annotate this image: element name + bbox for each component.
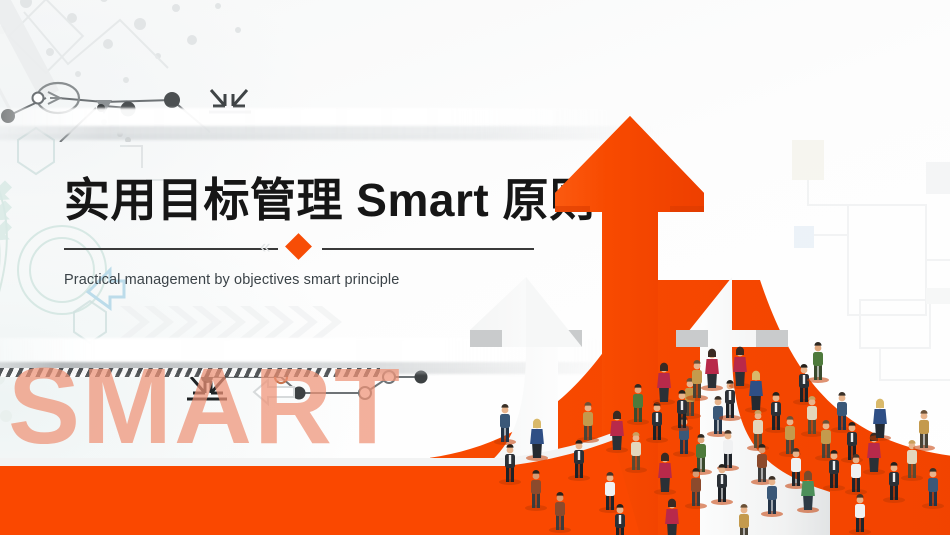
divider-line-left <box>64 248 278 250</box>
ghost-chevron-icon: « <box>260 239 286 257</box>
orange-band <box>0 425 950 535</box>
slide-canvas: SMART 实用目标管理 Smart 原则 « Practical manage… <box>0 0 950 535</box>
diamond-marker-icon <box>285 233 312 260</box>
